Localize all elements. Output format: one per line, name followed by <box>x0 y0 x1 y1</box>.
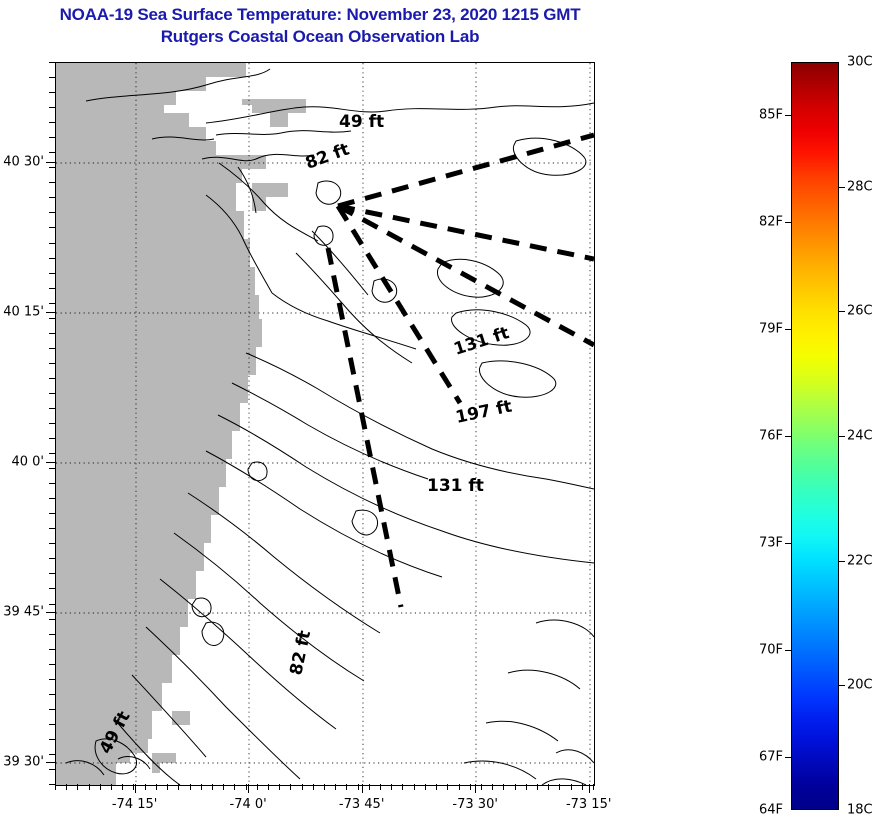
y-tick-minor <box>49 483 55 484</box>
x-tick-minor <box>279 784 280 790</box>
x-tick-minor <box>447 784 448 790</box>
y-tick-minor <box>49 604 55 605</box>
x-tick-minor <box>537 784 538 790</box>
y-axis-label: 40 30' <box>3 154 44 169</box>
x-tick-minor <box>156 784 157 790</box>
y-tick-minor <box>49 784 55 785</box>
x-tick-minor <box>190 784 191 790</box>
colorbar-celsius-tick-label: 20C <box>847 678 872 693</box>
y-tick-minor <box>49 152 55 153</box>
x-tick-minor <box>89 784 90 790</box>
x-tick-minor <box>335 784 336 790</box>
colorbar-celsius-tick-label: 26C <box>847 304 872 319</box>
y-tick-minor <box>49 679 55 680</box>
y-tick-minor <box>49 92 55 93</box>
x-tick-minor <box>313 784 314 790</box>
y-tick-minor <box>49 769 55 770</box>
x-tick-minor <box>290 784 291 790</box>
title-line-2: Rutgers Coastal Ocean Observation Lab <box>0 26 640 48</box>
x-tick-minor <box>324 784 325 790</box>
x-tick-minor <box>145 784 146 790</box>
x-tick-minor <box>167 784 168 790</box>
x-tick-minor <box>246 784 247 790</box>
title-line-1: NOAA-19 Sea Surface Temperature: Novembe… <box>0 4 640 26</box>
y-tick-minor <box>49 588 55 589</box>
y-tick-minor <box>49 318 55 319</box>
x-tick-minor <box>55 784 56 790</box>
y-tick-major <box>46 462 55 463</box>
y-tick-minor <box>49 378 55 379</box>
y-tick-minor <box>49 664 55 665</box>
y-tick-minor <box>49 649 55 650</box>
x-axis-label: -73 45' <box>339 797 384 812</box>
x-tick-minor <box>548 784 549 790</box>
x-tick-major <box>248 784 249 793</box>
y-tick-minor <box>49 619 55 620</box>
x-tick-minor <box>559 784 560 790</box>
colorbar-celsius-tick-label: 30C <box>847 55 872 70</box>
x-tick-minor <box>470 784 471 790</box>
y-tick-minor <box>49 468 55 469</box>
y-tick-minor <box>49 438 55 439</box>
x-tick-minor <box>582 784 583 790</box>
y-axis-label: 39 30' <box>3 755 44 770</box>
y-tick-minor <box>49 363 55 364</box>
y-axis-label: 40 15' <box>3 304 44 319</box>
colorbar-fahrenheit-tick-label: 73F <box>759 535 783 550</box>
y-tick-minor <box>49 122 55 123</box>
colorbar-fahrenheit-tick-label: 64F <box>759 803 783 818</box>
x-tick-minor <box>380 784 381 790</box>
x-tick-minor <box>234 784 235 790</box>
y-tick-minor <box>49 77 55 78</box>
y-tick-minor <box>49 498 55 499</box>
y-tick-minor <box>49 513 55 514</box>
y-tick-minor <box>49 393 55 394</box>
colorbar-celsius-tick-label: 22C <box>847 553 872 568</box>
y-tick-minor <box>49 288 55 289</box>
y-tick-minor <box>49 348 55 349</box>
x-tick-major <box>475 784 476 793</box>
x-tick-major <box>362 784 363 793</box>
x-tick-minor <box>391 784 392 790</box>
y-tick-minor <box>49 62 55 63</box>
colorbar-celsius-tick <box>839 561 845 562</box>
x-tick-minor <box>515 784 516 790</box>
y-tick-major <box>46 762 55 763</box>
y-tick-minor <box>49 408 55 409</box>
y-tick-minor <box>49 754 55 755</box>
x-tick-minor <box>122 784 123 790</box>
x-tick-minor <box>503 784 504 790</box>
depth-label-131ft-lower: 131 ft <box>427 476 484 496</box>
y-tick-minor <box>49 107 55 108</box>
colorbar-celsius-tick-label: 24C <box>847 429 872 444</box>
x-tick-major <box>135 784 136 793</box>
y-tick-minor <box>49 167 55 168</box>
x-tick-minor <box>358 784 359 790</box>
colorbar-fahrenheit-tick-label: 85F <box>759 108 783 123</box>
y-tick-minor <box>49 303 55 304</box>
colorbar-fahrenheit-tick-label: 79F <box>759 322 783 337</box>
colorbar-celsius-tick-label: 28C <box>847 179 872 194</box>
x-tick-minor <box>302 784 303 790</box>
y-tick-minor <box>49 182 55 183</box>
colorbar-celsius-axis: 30C28C26C24C22C20C18C <box>791 62 839 810</box>
y-tick-minor <box>49 137 55 138</box>
x-tick-minor <box>66 784 67 790</box>
colorbar-fahrenheit-tick-label: 82F <box>759 215 783 230</box>
x-tick-minor <box>526 784 527 790</box>
depth-label-49ft-north: 49 ft <box>339 112 384 132</box>
y-tick-minor <box>49 243 55 244</box>
y-tick-minor <box>49 273 55 274</box>
y-tick-minor <box>49 258 55 259</box>
page-title: NOAA-19 Sea Surface Temperature: Novembe… <box>0 4 640 48</box>
sst-map-plot: 49 ft 82 ft 131 ft 197 ft 131 ft 82 ft 4… <box>55 62 595 786</box>
x-tick-minor <box>571 784 572 790</box>
x-tick-minor <box>77 784 78 790</box>
y-tick-minor <box>49 333 55 334</box>
x-tick-minor <box>268 784 269 790</box>
x-tick-minor <box>436 784 437 790</box>
y-tick-minor <box>49 573 55 574</box>
x-tick-minor <box>346 784 347 790</box>
x-tick-minor <box>459 784 460 790</box>
x-tick-minor <box>481 784 482 790</box>
y-tick-minor <box>49 528 55 529</box>
y-tick-minor <box>49 558 55 559</box>
x-axis-label: -73 30' <box>452 797 497 812</box>
y-tick-minor <box>49 212 55 213</box>
y-tick-major <box>46 312 55 313</box>
x-tick-minor <box>100 784 101 790</box>
colorbar-celsius-tick <box>839 436 845 437</box>
colorbar-celsius-tick <box>839 311 845 312</box>
x-tick-minor <box>593 784 594 790</box>
y-tick-minor <box>49 709 55 710</box>
x-axis-label: -74 15' <box>112 797 157 812</box>
x-tick-minor <box>414 784 415 790</box>
y-tick-minor <box>49 453 55 454</box>
colorbar-celsius-tick-label: 18C <box>847 803 872 818</box>
y-tick-minor <box>49 227 55 228</box>
y-tick-minor <box>49 423 55 424</box>
x-tick-minor <box>111 784 112 790</box>
x-tick-minor <box>212 784 213 790</box>
y-tick-minor <box>49 694 55 695</box>
y-tick-minor <box>49 634 55 635</box>
map-canvas: 49 ft 82 ft 131 ft 197 ft 131 ft 82 ft 4… <box>56 63 594 785</box>
colorbar-fahrenheit-tick-label: 67F <box>759 749 783 764</box>
colorbar: 85F82F79F76F73F70F67F64F 30C28C26C24C22C… <box>791 62 839 810</box>
x-tick-minor <box>369 784 370 790</box>
colorbar-fahrenheit-tick-label: 76F <box>759 429 783 444</box>
colorbar-celsius-tick <box>839 187 845 188</box>
x-tick-minor <box>492 784 493 790</box>
y-axis-label: 40 0' <box>11 454 44 469</box>
x-tick-minor <box>425 784 426 790</box>
y-tick-minor <box>49 739 55 740</box>
y-tick-minor <box>49 543 55 544</box>
x-tick-major <box>589 784 590 793</box>
y-tick-major <box>46 612 55 613</box>
x-tick-minor <box>223 784 224 790</box>
colorbar-fahrenheit-tick-label: 70F <box>759 642 783 657</box>
y-tick-minor <box>49 197 55 198</box>
x-tick-minor <box>178 784 179 790</box>
colorbar-celsius-tick <box>839 685 845 686</box>
y-axis-label: 39 45' <box>3 605 44 620</box>
x-axis-label: -73 15' <box>566 797 611 812</box>
y-tick-major <box>46 162 55 163</box>
x-tick-minor <box>257 784 258 790</box>
x-axis-label: -74 0' <box>230 797 267 812</box>
x-tick-minor <box>201 784 202 790</box>
y-tick-minor <box>49 724 55 725</box>
x-tick-minor <box>402 784 403 790</box>
